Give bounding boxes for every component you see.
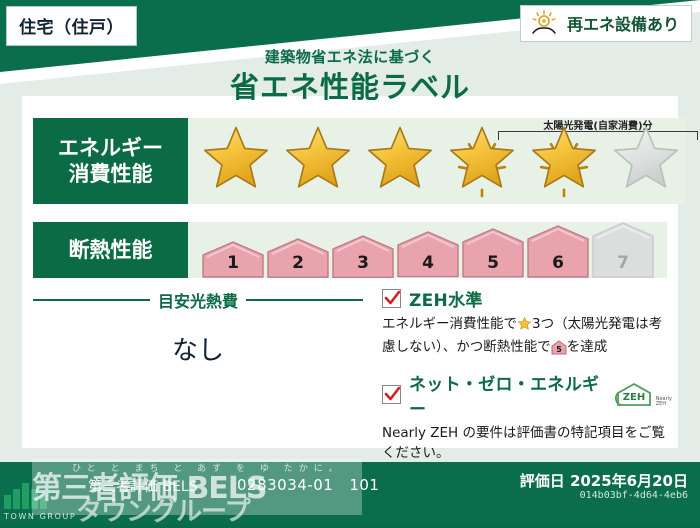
star-empty-icon — [606, 123, 686, 199]
energy-rating-body: 太陽光発電(自家消費)分 — [188, 118, 686, 204]
label-root: 住宅（住戸） 再エネ設備あり 建築物省エネ法に基づく 省エネ性能ラベル — [0, 0, 700, 525]
star-filled-icon — [278, 123, 358, 199]
insulation-house-level: 2 — [267, 253, 329, 273]
star-filled-icon — [442, 123, 522, 199]
energy-performance-label: エネルギー 消費性能 — [33, 118, 188, 204]
zeh-standard-head: ZEH水準 — [382, 286, 672, 311]
cost-heading-label: 目安光熱費 — [158, 288, 238, 312]
insulation-house-scale: 1234567 — [188, 222, 654, 278]
insulation-house-filled: 5 — [462, 228, 524, 278]
housing-type-tag: 住宅（住戸） — [6, 6, 137, 46]
insulation-rating-body: 1234567 — [188, 222, 667, 278]
insulation-house-level: 4 — [397, 253, 459, 273]
star-filled-icon — [196, 123, 276, 199]
renewable-equipment-badge: 再エネ設備あり — [520, 5, 692, 42]
zeh-section: ZEH水準 エネルギー消費性能で3つ（太陽光発電は考慮しない）、かつ断熱性能で5… — [382, 286, 672, 471]
star-filled-icon — [360, 123, 440, 199]
insulation-house-level: 5 — [462, 253, 524, 273]
inline-house-icon: 5 — [551, 340, 567, 361]
zeh-logo-subtext: NearlyZEH — [656, 397, 672, 408]
net-zero-body: Nearly ZEH の要件は評価書の特記項目をご覧ください。 — [382, 423, 672, 464]
insulation-performance-row: 断熱性能 1234567 — [33, 222, 667, 278]
net-zero-title: ネット・ゼロ・エネルギー — [409, 370, 602, 420]
svg-text:5: 5 — [556, 345, 562, 354]
inline-star-icon — [517, 316, 532, 337]
evaluation-date: 評価日 2025年6月20日 — [520, 470, 688, 491]
footer-number: 0283034-01101 — [237, 476, 379, 494]
energy-label-line1: エネルギー — [58, 135, 163, 161]
insulation-house-level: 7 — [592, 253, 654, 273]
star-filled-icon — [524, 123, 604, 199]
town-group-logo-text: TOWN GROUP — [4, 512, 100, 521]
insulation-house-filled: 6 — [527, 225, 589, 278]
net-zero-checkbox[interactable] — [382, 385, 401, 404]
insulation-house-filled: 4 — [397, 231, 459, 278]
utility-cost-heading: 目安光熱費 — [33, 288, 363, 312]
insulation-house-level: 3 — [332, 253, 394, 273]
town-group-logo: TOWN GROUP — [4, 483, 100, 521]
footer-room-number: 101 — [349, 476, 379, 494]
svg-text:ZEH: ZEH — [622, 392, 644, 403]
footer-left-text: 第三者評価 BELS — [88, 476, 198, 496]
insulation-house-filled: 2 — [267, 238, 329, 278]
sun-solar-icon — [529, 10, 559, 36]
footer-evaluation-number: 0283034-01 — [237, 476, 333, 494]
net-zero-energy-item: ネット・ゼロ・エネルギー ZEH NearlyZEH Nearly ZEH の要… — [382, 370, 672, 464]
evaluation-date-value: 2025年6月20日 — [570, 472, 688, 490]
insulation-performance-label: 断熱性能 — [33, 222, 188, 278]
insulation-house-level: 1 — [202, 253, 264, 273]
town-group-mark-icon — [4, 483, 100, 509]
cost-rule-left — [33, 299, 150, 301]
energy-label-line2: 消費性能 — [69, 161, 153, 187]
insulation-house-filled: 3 — [332, 235, 394, 278]
insulation-house-empty: 7 — [592, 222, 654, 278]
net-zero-head: ネット・ゼロ・エネルギー ZEH NearlyZEH — [382, 370, 672, 420]
zeh-body-post: を達成 — [567, 339, 608, 355]
utility-cost-value: なし — [33, 330, 363, 367]
evaluation-date-label: 評価日 — [520, 472, 565, 490]
zeh-standard-title: ZEH水準 — [409, 286, 483, 311]
energy-star-rating — [188, 123, 686, 199]
zeh-body-pre: エネルギー消費性能で — [382, 316, 517, 332]
insulation-house-level: 6 — [527, 253, 589, 273]
footer-bar: 第三者評価 BELS 0283034-01101 評価日 2025年6月20日 … — [0, 462, 700, 525]
zeh-standard-body: エネルギー消費性能で3つ（太陽光発電は考慮しない）、かつ断熱性能で5を達成 — [382, 314, 672, 362]
page-title: 省エネ性能ラベル — [0, 64, 700, 106]
insulation-house-filled: 1 — [202, 241, 264, 278]
evaluation-uuid: 014b03bf-4d64-4eb6 — [580, 490, 688, 501]
energy-performance-row: エネルギー 消費性能 太陽光発電(自家消費)分 — [33, 118, 667, 204]
zeh-standard-checkbox[interactable] — [382, 289, 401, 308]
renewable-badge-label: 再エネ設備あり — [567, 11, 679, 35]
cost-rule-right — [246, 299, 363, 301]
zeh-logo-badge: ZEH NearlyZEH — [614, 382, 672, 408]
zeh-standard-item: ZEH水準 エネルギー消費性能で3つ（太陽光発電は考慮しない）、かつ断熱性能で5… — [382, 286, 672, 362]
